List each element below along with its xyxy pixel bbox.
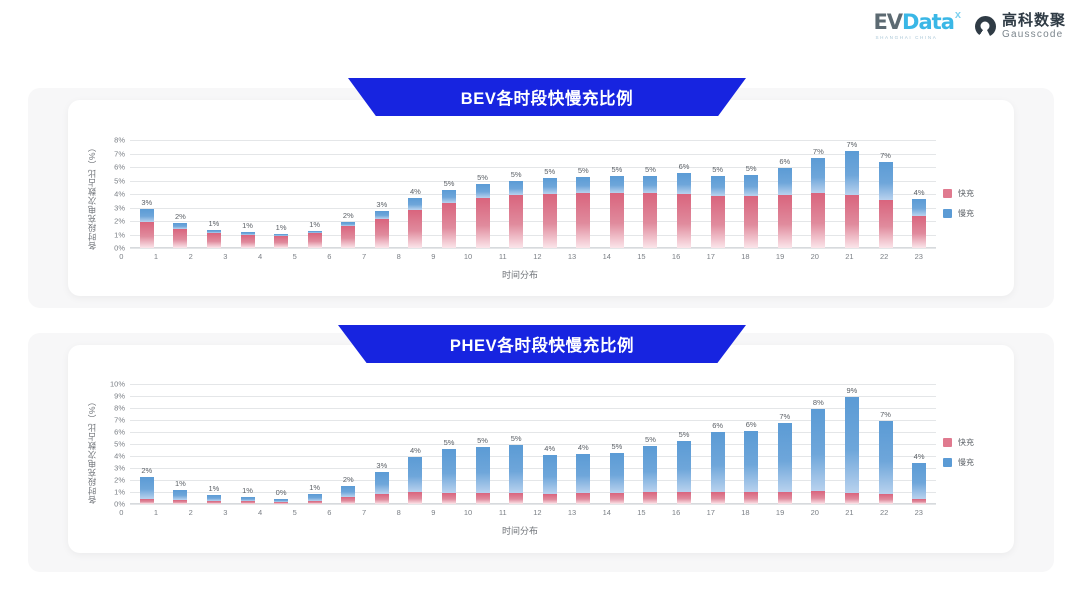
bev-gridline (130, 248, 936, 249)
stacked-bar[interactable] (610, 453, 624, 504)
bar-slot[interactable]: 2% (130, 384, 164, 504)
bar-slot[interactable]: 3% (365, 384, 399, 504)
bar-slot[interactable]: 5% (432, 384, 466, 504)
bar-slot[interactable]: 3% (365, 140, 399, 248)
x-tick-label: 16 (659, 508, 694, 517)
bev-legend-item-fast[interactable]: 快充 (943, 188, 974, 199)
bar-segment-slow-charge (375, 472, 389, 495)
bev-y-tick: 5% (114, 176, 125, 185)
stacked-bar[interactable] (140, 477, 154, 504)
bar-segment-slow-charge (677, 441, 691, 491)
x-tick-label: 10 (451, 252, 486, 261)
stacked-bar[interactable] (744, 431, 758, 504)
phev-chart: 各时段充电次数占比（%） 0%1%2%3%4%5%6%7%8%9%10% 2%1… (86, 374, 936, 539)
evdata-wordmark: EV Data x (873, 12, 961, 33)
x-tick-label: 0 (104, 508, 139, 517)
x-tick-label: 2 (173, 508, 208, 517)
bar-segment-slow-charge (610, 453, 624, 494)
bev-y-tick: 6% (114, 163, 125, 172)
stacked-bar[interactable] (408, 198, 422, 248)
bev-y-tick: 8% (114, 136, 125, 145)
bar-segment-slow-charge (576, 177, 590, 193)
bar-slot[interactable]: 5% (634, 140, 668, 248)
bev-y-tick: 4% (114, 190, 125, 199)
bar-slot[interactable]: 5% (734, 140, 768, 248)
bar-segment-fast-charge (442, 203, 456, 248)
x-tick-label: 2 (173, 252, 208, 261)
bar-segment-slow-charge (677, 173, 691, 194)
x-tick-label: 8 (381, 508, 416, 517)
bar-value-label: 8% (813, 398, 824, 407)
bar-slot[interactable]: 6% (701, 384, 735, 504)
bar-segment-slow-charge (811, 409, 825, 491)
stacked-bar[interactable] (711, 176, 725, 248)
bar-slot[interactable]: 2% (331, 384, 365, 504)
stacked-bar[interactable] (341, 222, 355, 248)
stacked-bar[interactable] (442, 190, 456, 248)
bar-slot[interactable]: 7% (768, 384, 802, 504)
bar-segment-slow-charge (811, 158, 825, 193)
bar-segment-fast-charge (375, 219, 389, 248)
bar-segment-fast-charge (912, 499, 926, 504)
bar-value-label: 4% (544, 444, 555, 453)
bar-value-label: 7% (779, 412, 790, 421)
bev-bar-group: 3%2%1%1%1%1%2%3%4%5%5%5%5%5%5%5%6%5%5%6%… (130, 140, 936, 248)
x-tick-label: 22 (867, 252, 902, 261)
gausscode-en-text: Gausscode (1002, 30, 1066, 40)
bar-segment-slow-charge (375, 211, 389, 218)
bar-slot[interactable]: 1% (231, 140, 265, 248)
bar-value-label: 5% (645, 435, 656, 444)
bar-value-label: 5% (511, 434, 522, 443)
phev-gridline (130, 504, 936, 505)
x-tick-label: 13 (555, 508, 590, 517)
bar-slot[interactable]: 1% (231, 384, 265, 504)
x-tick-label: 6 (312, 508, 347, 517)
stacked-bar[interactable] (879, 421, 893, 504)
bar-segment-slow-charge (408, 457, 422, 492)
bar-segment-slow-charge (912, 463, 926, 499)
bar-segment-fast-charge (408, 492, 422, 504)
x-tick-label: 3 (208, 508, 243, 517)
phev-y-tick: 8% (114, 404, 125, 413)
gausscode-cn-text: 高科数聚 (1002, 13, 1066, 28)
bev-chart: 各时段充电次数占比（%） 0%1%2%3%4%5%6%7%8% 3%2%1%1%… (86, 130, 936, 280)
bar-value-label: 5% (712, 165, 723, 174)
bar-segment-slow-charge (643, 446, 657, 492)
bar-segment-fast-charge (140, 499, 154, 504)
bar-value-label: 1% (175, 479, 186, 488)
bar-segment-fast-charge (509, 195, 523, 248)
bar-slot[interactable]: 2% (164, 140, 198, 248)
phev-legend-item-slow[interactable]: 慢充 (943, 457, 974, 468)
bev-plot-area: 0%1%2%3%4%5%6%7%8% 3%2%1%1%1%1%2%3%4%5%5… (104, 140, 936, 248)
bar-segment-fast-charge (879, 494, 893, 504)
bar-value-label: 2% (343, 211, 354, 220)
bar-slot[interactable]: 5% (600, 140, 634, 248)
phev-y-tick: 10% (110, 380, 125, 389)
bar-segment-fast-charge (610, 493, 624, 504)
bar-segment-fast-charge (173, 229, 187, 248)
x-tick-label: 5 (277, 508, 312, 517)
stacked-bar[interactable] (375, 472, 389, 504)
stacked-bar[interactable] (476, 184, 490, 248)
bar-segment-slow-charge (543, 178, 557, 194)
stacked-bar[interactable] (811, 409, 825, 504)
bar-segment-fast-charge (845, 195, 859, 248)
x-tick-label: 4 (243, 508, 278, 517)
bar-slot[interactable]: 1% (298, 384, 332, 504)
bar-slot[interactable]: 4% (533, 384, 567, 504)
bar-slot[interactable]: 1% (264, 140, 298, 248)
bar-slot[interactable]: 5% (634, 384, 668, 504)
stacked-bar[interactable] (173, 223, 187, 248)
bar-segment-slow-charge (543, 455, 557, 493)
evdata-ev-text: EV (873, 12, 902, 33)
stacked-bar[interactable] (509, 445, 523, 504)
slow-charge-swatch-icon (943, 209, 952, 218)
bar-slot[interactable]: 1% (197, 140, 231, 248)
bar-segment-fast-charge (207, 501, 221, 504)
x-tick-label: 17 (693, 252, 728, 261)
x-tick-label: 12 (520, 508, 555, 517)
bar-slot[interactable]: 5% (533, 140, 567, 248)
bar-value-label: 5% (611, 442, 622, 451)
bar-slot[interactable]: 6% (734, 384, 768, 504)
x-tick-label: 18 (728, 508, 763, 517)
bar-slot[interactable]: 7% (802, 140, 836, 248)
x-tick-label: 4 (243, 252, 278, 261)
bar-value-label: 5% (578, 166, 589, 175)
bar-segment-slow-charge (173, 490, 187, 501)
x-tick-label: 23 (901, 508, 936, 517)
phev-y-tick: 2% (114, 476, 125, 485)
phev-y-tick: 4% (114, 452, 125, 461)
bar-value-label: 5% (511, 170, 522, 179)
bar-segment-fast-charge (207, 233, 221, 248)
bar-segment-fast-charge (543, 194, 557, 248)
stacked-bar[interactable] (778, 168, 792, 248)
stacked-bar[interactable] (744, 175, 758, 248)
slide-page: EV Data x SHANGHAI CHINA 高科数聚 Gausscode … (0, 0, 1080, 608)
stacked-bar[interactable] (476, 447, 490, 504)
bar-segment-fast-charge (408, 210, 422, 248)
bar-segment-fast-charge (811, 491, 825, 504)
stacked-bar[interactable] (677, 441, 691, 504)
phev-title-ribbon: PHEV各时段快慢充比例 (338, 325, 746, 363)
stacked-bar[interactable] (778, 423, 792, 504)
bar-slot[interactable]: 8% (802, 384, 836, 504)
stacked-bar[interactable] (879, 162, 893, 248)
stacked-bar[interactable] (241, 232, 255, 248)
bar-slot[interactable]: 5% (701, 140, 735, 248)
gausscode-g-icon (975, 16, 996, 37)
slow-charge-swatch-icon (943, 458, 952, 467)
stacked-bar[interactable] (274, 234, 288, 248)
bar-value-label: 4% (578, 443, 589, 452)
bar-value-label: 5% (544, 167, 555, 176)
bar-slot[interactable]: 5% (600, 384, 634, 504)
x-tick-label: 23 (901, 252, 936, 261)
stacked-bar[interactable] (274, 499, 288, 504)
phev-plot-canvas: 2%1%1%1%0%1%2%3%4%5%5%5%4%4%5%5%5%6%6%7%… (130, 384, 936, 504)
bar-segment-slow-charge (408, 198, 422, 209)
phev-y-tick: 6% (114, 428, 125, 437)
bar-segment-fast-charge (476, 493, 490, 504)
bar-segment-fast-charge (778, 195, 792, 248)
x-tick-label: 19 (763, 252, 798, 261)
bev-legend: 快充 慢充 (943, 188, 974, 219)
bar-segment-slow-charge (442, 449, 456, 492)
bar-value-label: 9% (847, 386, 858, 395)
bar-slot[interactable]: 4% (399, 384, 433, 504)
bar-segment-fast-charge (241, 501, 255, 504)
bar-slot[interactable]: 0% (264, 384, 298, 504)
bar-segment-fast-charge (274, 502, 288, 504)
bar-segment-slow-charge (140, 477, 154, 499)
x-tick-label: 3 (208, 252, 243, 261)
bar-segment-fast-charge (341, 497, 355, 504)
bar-slot[interactable]: 9% (835, 384, 869, 504)
bar-value-label: 4% (914, 452, 925, 461)
evdata-subtitle: SHANGHAI CHINA (873, 35, 937, 40)
phev-y-tick: 1% (114, 488, 125, 497)
bar-value-label: 5% (645, 165, 656, 174)
bar-segment-slow-charge (576, 454, 590, 493)
bar-value-label: 3% (141, 198, 152, 207)
bar-segment-fast-charge (476, 198, 490, 248)
bar-slot[interactable]: 2% (331, 140, 365, 248)
x-tick-label: 1 (139, 508, 174, 517)
bar-value-label: 2% (175, 212, 186, 221)
bar-segment-slow-charge (778, 423, 792, 492)
bev-title-ribbon: BEV各时段快慢充比例 (348, 78, 746, 116)
bar-slot[interactable]: 1% (164, 384, 198, 504)
bar-value-label: 1% (209, 484, 220, 493)
bar-segment-fast-charge (643, 492, 657, 504)
bar-segment-slow-charge (711, 432, 725, 492)
bar-segment-fast-charge (643, 193, 657, 248)
x-tick-label: 11 (485, 252, 520, 261)
bar-segment-fast-charge (241, 235, 255, 248)
x-tick-label: 21 (832, 252, 867, 261)
bar-segment-slow-charge (610, 176, 624, 193)
bar-value-label: 4% (410, 446, 421, 455)
bar-segment-fast-charge (845, 493, 859, 504)
phev-y-tick-labels: 0%1%2%3%4%5%6%7%8%9%10% (104, 384, 128, 504)
phev-y-tick: 3% (114, 464, 125, 473)
stacked-bar[interactable] (173, 490, 187, 504)
bev-x-axis-title: 时间分布 (104, 268, 936, 281)
bar-segment-slow-charge (643, 176, 657, 194)
bar-value-label: 6% (746, 420, 757, 429)
fast-charge-swatch-icon (943, 438, 952, 447)
bev-x-tick-labels: 01234567891011121314151617181920212223 (104, 252, 936, 261)
bar-slot[interactable]: 4% (567, 384, 601, 504)
bar-slot[interactable]: 1% (298, 140, 332, 248)
phev-y-tick: 9% (114, 392, 125, 401)
phev-bar-group: 2%1%1%1%0%1%2%3%4%5%5%5%4%4%5%5%5%6%6%7%… (130, 384, 936, 504)
bar-segment-fast-charge (677, 194, 691, 248)
bar-value-label: 7% (813, 147, 824, 156)
stacked-bar[interactable] (610, 176, 624, 248)
bar-slot[interactable]: 3% (130, 140, 164, 248)
bar-slot[interactable]: 1% (197, 384, 231, 504)
bar-segment-fast-charge (711, 196, 725, 248)
stacked-bar[interactable] (912, 199, 926, 248)
x-tick-label: 20 (797, 508, 832, 517)
phev-legend: 快充 慢充 (943, 437, 974, 468)
stacked-bar[interactable] (543, 455, 557, 504)
bar-segment-fast-charge (576, 193, 590, 248)
stacked-bar[interactable] (442, 449, 456, 504)
stacked-bar[interactable] (711, 432, 725, 504)
gausscode-wordmark: 高科数聚 Gausscode (1002, 13, 1066, 40)
stacked-bar[interactable] (408, 457, 422, 504)
x-tick-label: 6 (312, 252, 347, 261)
bar-slot[interactable]: 5% (466, 384, 500, 504)
phev-x-axis-title: 时间分布 (104, 524, 936, 537)
bar-segment-fast-charge (610, 193, 624, 248)
stacked-bar[interactable] (308, 231, 322, 248)
bar-value-label: 5% (477, 173, 488, 182)
phev-legend-item-fast[interactable]: 快充 (943, 437, 974, 448)
bar-segment-slow-charge (509, 445, 523, 493)
stacked-bar[interactable] (576, 177, 590, 248)
bar-slot[interactable]: 5% (499, 384, 533, 504)
phev-title-text: PHEV各时段快慢充比例 (450, 332, 634, 356)
bar-segment-slow-charge (879, 162, 893, 200)
stacked-bar[interactable] (643, 446, 657, 504)
x-tick-label: 1 (139, 252, 174, 261)
bar-value-label: 7% (880, 410, 891, 419)
x-tick-label: 9 (416, 508, 451, 517)
bar-segment-slow-charge (341, 486, 355, 498)
stacked-bar[interactable] (341, 486, 355, 504)
bar-segment-fast-charge (576, 493, 590, 504)
gausscode-logo: 高科数聚 Gausscode (975, 13, 1066, 40)
bar-value-label: 6% (679, 162, 690, 171)
bar-value-label: 1% (309, 483, 320, 492)
bar-slot[interactable]: 7% (835, 140, 869, 248)
bar-value-label: 1% (242, 486, 253, 495)
stacked-bar[interactable] (811, 158, 825, 248)
bar-slot[interactable]: 4% (902, 384, 936, 504)
bev-y-axis-title: 各时段充电次数占比（%） (86, 138, 98, 250)
bar-value-label: 6% (712, 421, 723, 430)
x-tick-label: 7 (347, 508, 382, 517)
fast-charge-swatch-icon (943, 189, 952, 198)
x-tick-label: 15 (624, 508, 659, 517)
x-tick-label: 7 (347, 252, 382, 261)
phev-legend-label-slow: 慢充 (958, 457, 974, 468)
x-tick-label: 13 (555, 252, 590, 261)
stacked-bar[interactable] (677, 173, 691, 248)
bar-value-label: 3% (376, 461, 387, 470)
bar-slot[interactable]: 4% (399, 140, 433, 248)
bev-legend-item-slow[interactable]: 慢充 (943, 208, 974, 219)
evdata-superscript-icon: x (955, 10, 961, 21)
stacked-bar[interactable] (308, 494, 322, 504)
bar-segment-slow-charge (476, 447, 490, 493)
bar-value-label: 1% (242, 221, 253, 230)
x-tick-label: 5 (277, 252, 312, 261)
stacked-bar[interactable] (509, 181, 523, 248)
x-tick-label: 17 (693, 508, 728, 517)
bar-segment-fast-charge (744, 492, 758, 504)
bar-value-label: 4% (914, 188, 925, 197)
bar-slot[interactable]: 5% (567, 140, 601, 248)
stacked-bar[interactable] (543, 178, 557, 248)
bar-segment-slow-charge (140, 209, 154, 222)
phev-y-tick: 5% (114, 440, 125, 449)
x-tick-label: 14 (589, 252, 624, 261)
stacked-bar[interactable] (912, 463, 926, 504)
bar-value-label: 2% (343, 475, 354, 484)
stacked-bar[interactable] (375, 211, 389, 248)
stacked-bar[interactable] (576, 454, 590, 504)
bar-slot[interactable]: 5% (466, 140, 500, 248)
bev-title-text: BEV各时段快慢充比例 (461, 85, 634, 109)
stacked-bar[interactable] (207, 495, 221, 504)
bar-segment-fast-charge (543, 494, 557, 504)
bev-y-tick-labels: 0%1%2%3%4%5%6%7%8% (104, 140, 128, 248)
bar-segment-fast-charge (879, 200, 893, 248)
x-tick-label: 19 (763, 508, 798, 517)
bar-slot[interactable]: 5% (432, 140, 466, 248)
bar-segment-fast-charge (375, 494, 389, 504)
bar-slot[interactable]: 6% (768, 140, 802, 248)
bar-segment-fast-charge (442, 493, 456, 504)
stacked-bar[interactable] (845, 397, 859, 504)
bev-plot-canvas: 3%2%1%1%1%1%2%3%4%5%5%5%5%5%5%5%6%5%5%6%… (130, 140, 936, 248)
stacked-bar[interactable] (643, 176, 657, 248)
bar-segment-slow-charge (744, 175, 758, 196)
bar-segment-fast-charge (308, 233, 322, 248)
x-tick-label: 22 (867, 508, 902, 517)
bar-slot[interactable]: 7% (869, 140, 903, 248)
bar-value-label: 6% (779, 157, 790, 166)
bar-slot[interactable]: 5% (667, 384, 701, 504)
x-tick-label: 14 (589, 508, 624, 517)
bar-value-label: 3% (376, 200, 387, 209)
bar-value-label: 5% (611, 165, 622, 174)
phev-legend-label-fast: 快充 (958, 437, 974, 448)
bar-segment-slow-charge (442, 190, 456, 203)
stacked-bar[interactable] (207, 230, 221, 248)
x-tick-label: 10 (451, 508, 486, 517)
bar-slot[interactable]: 6% (667, 140, 701, 248)
bar-segment-slow-charge (711, 176, 725, 196)
bev-y-tick: 1% (114, 230, 125, 239)
stacked-bar[interactable] (845, 151, 859, 248)
bar-value-label: 1% (309, 220, 320, 229)
bar-value-label: 7% (880, 151, 891, 160)
x-tick-label: 18 (728, 252, 763, 261)
x-tick-label: 15 (624, 252, 659, 261)
stacked-bar[interactable] (241, 497, 255, 504)
stacked-bar[interactable] (140, 209, 154, 248)
bar-slot[interactable]: 4% (902, 140, 936, 248)
bar-segment-slow-charge (744, 431, 758, 492)
bar-segment-fast-charge (509, 493, 523, 504)
phev-x-tick-labels: 01234567891011121314151617181920212223 (104, 508, 936, 517)
bar-slot[interactable]: 7% (869, 384, 903, 504)
bar-segment-slow-charge (912, 199, 926, 216)
bar-slot[interactable]: 5% (499, 140, 533, 248)
bar-segment-fast-charge (140, 222, 154, 248)
bar-value-label: 1% (209, 219, 220, 228)
